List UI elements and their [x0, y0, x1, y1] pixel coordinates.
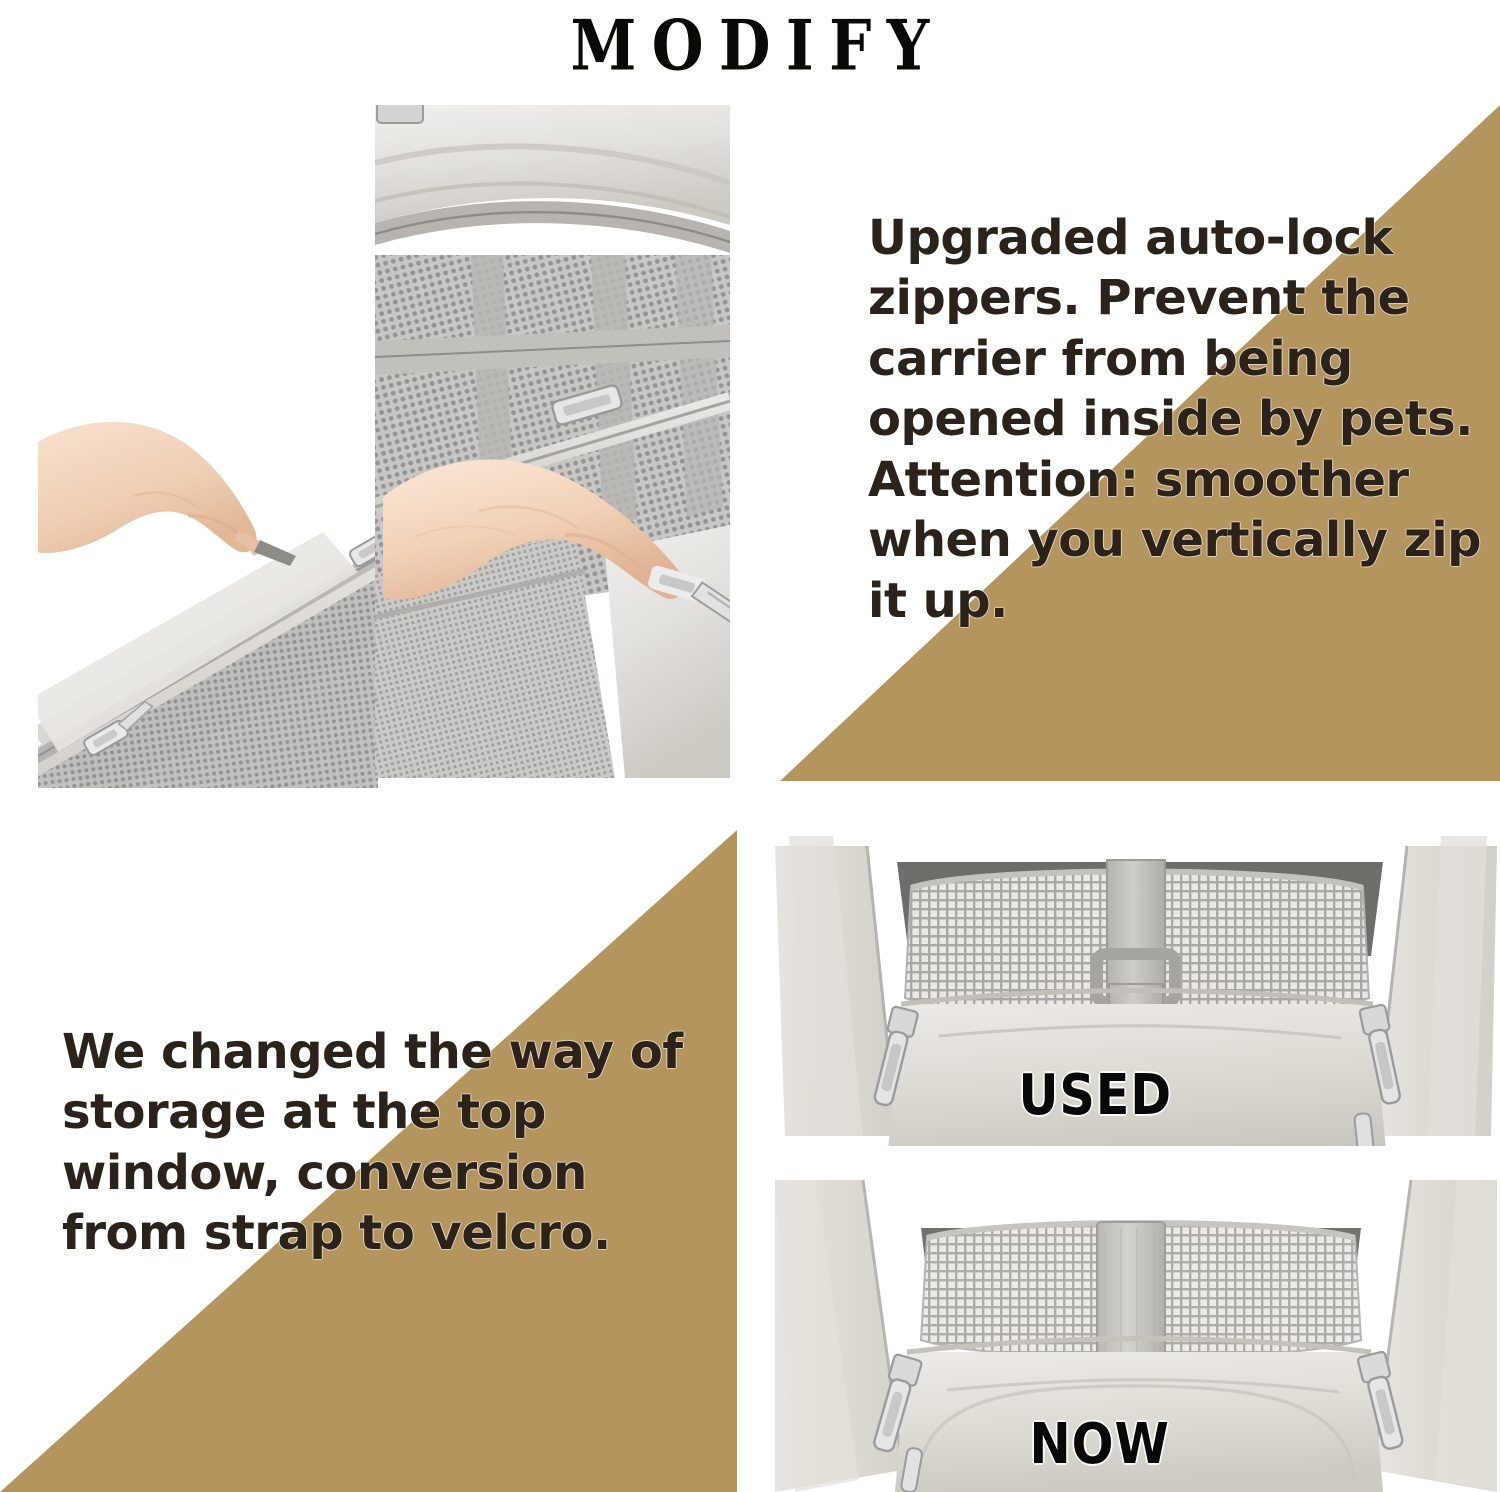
photo-top-window-velcro — [775, 1180, 1497, 1492]
storage-description: We changed the way of storage at the top… — [62, 1022, 692, 1264]
photo-top-window-strap-buckle — [775, 836, 1497, 1162]
page-title-bar: MODIFY — [0, 0, 1500, 92]
zipper-left-illustration — [38, 300, 378, 788]
infographic-page: MODIFY — [0, 0, 1500, 1492]
zipper-right-illustration — [375, 105, 730, 778]
photo-hand-pulling-zipper-left — [38, 300, 378, 788]
page-title: MODIFY — [555, 11, 944, 80]
photo-hand-pulling-zipper-right — [375, 105, 730, 778]
zippers-description: Upgraded auto-lock zippers. Prevent the … — [868, 208, 1492, 631]
used-carrier-illustration — [775, 836, 1497, 1162]
now-carrier-illustration — [775, 1180, 1497, 1492]
